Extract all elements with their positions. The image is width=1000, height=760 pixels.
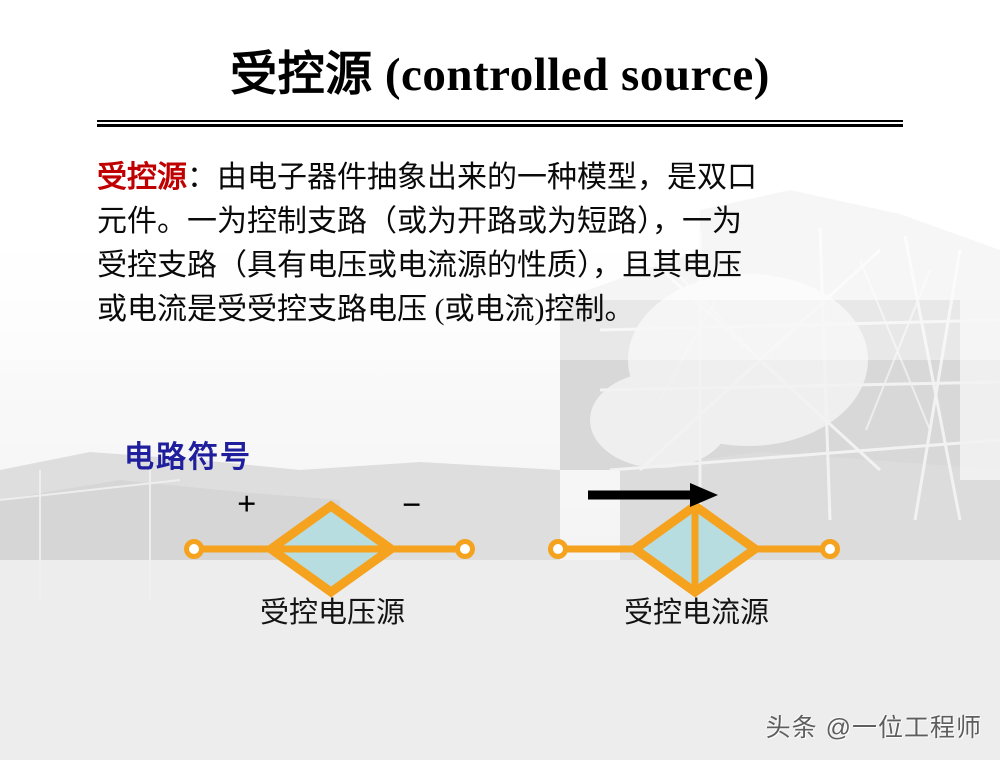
body-line-2: 元件。一为控制支路（或为开路或为短路），一为 (97, 200, 927, 244)
controlled-current-source-symbol (551, 506, 838, 592)
watermark-text: 头条 @一位工程师 (766, 713, 982, 743)
caption-controlled-current-source: 受控电流源 (624, 596, 769, 630)
page-title-text: 受控源 (controlled source) (0, 46, 1000, 104)
title-divider-line-lower (97, 124, 903, 127)
slide-canvas: 受控源 (controlled source) 受控源：由电子器件抽象出来的一种… (0, 0, 1000, 760)
controlled-voltage-source-symbol (187, 506, 473, 592)
polarity-plus-sign: + (237, 488, 256, 522)
title-divider (97, 120, 903, 127)
caption-controlled-voltage-source: 受控电压源 (260, 596, 405, 630)
polarity-minus-sign: − (402, 489, 421, 523)
title-divider-line-upper (97, 120, 903, 122)
background-photo-watermark (0, 0, 1000, 760)
body-paragraph: 受控源：由电子器件抽象出来的一种模型，是双口 元件。一为控制支路（或为开路或为短… (97, 156, 927, 332)
body-line-3: 受控支路（具有电压或电流源的性质），且其电压 (97, 244, 927, 288)
circuit-symbol-section-label: 电路符号 (124, 440, 252, 476)
circuit-diagram (0, 0, 1000, 760)
body-line-4: 或电流是受受控支路电压 (或电流)控制。 (97, 288, 927, 332)
body-line-1-text: ：由电子器件抽象出来的一种模型，是双口 (187, 161, 757, 194)
body-keyword: 受控源 (97, 161, 187, 194)
body-line-1: 受控源：由电子器件抽象出来的一种模型，是双口 (97, 156, 927, 200)
page-title: 受控源 (controlled source) (0, 46, 1000, 104)
current-direction-arrow (588, 483, 718, 507)
